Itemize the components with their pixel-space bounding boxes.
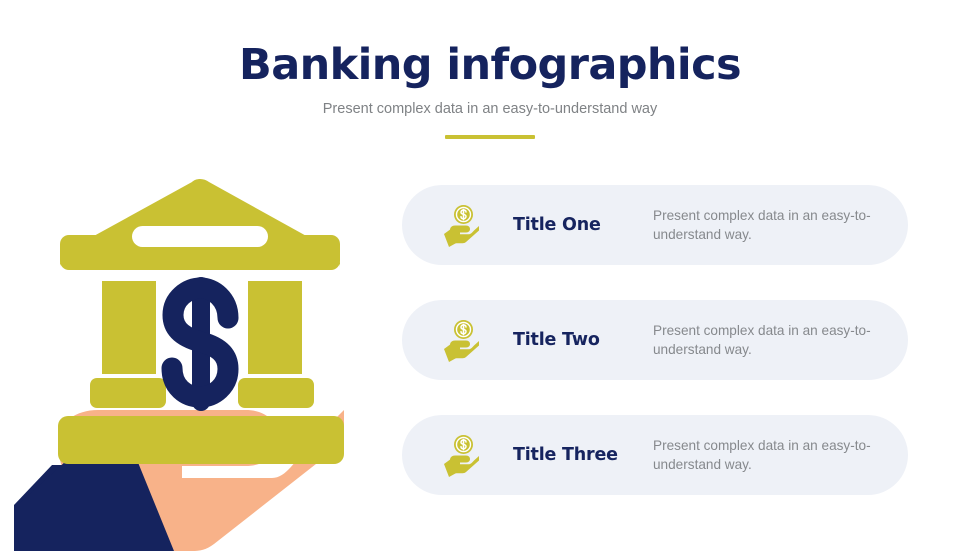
page-title: Banking infographics — [0, 0, 980, 90]
hand-holding-bank-illustration — [14, 160, 384, 551]
card-description: Present complex data in an easy-to-under… — [653, 206, 908, 244]
card-item[interactable]: Title Two Present complex data in an eas… — [402, 300, 908, 380]
header: Banking infographics Present complex dat… — [0, 0, 980, 139]
cards-list: Title One Present complex data in an eas… — [402, 185, 908, 495]
bank-base — [58, 416, 344, 464]
dollar-sign — [172, 277, 228, 411]
hand-holding-coin-icon — [439, 317, 485, 363]
card-title: Title Three — [513, 445, 653, 465]
card-description: Present complex data in an easy-to-under… — [653, 321, 908, 359]
card-item[interactable]: Title Three Present complex data in an e… — [402, 415, 908, 495]
hand-holding-coin-icon — [439, 202, 485, 248]
card-description: Present complex data in an easy-to-under… — [653, 436, 908, 474]
bank-left-pillar — [102, 281, 156, 374]
bank-right-pillar — [248, 281, 302, 374]
card-item[interactable]: Title One Present complex data in an eas… — [402, 185, 908, 265]
hand-holding-coin-icon — [439, 432, 485, 478]
card-title: Title Two — [513, 330, 653, 350]
title-divider — [445, 135, 535, 139]
page-subtitle: Present complex data in an easy-to-under… — [0, 90, 980, 118]
bank-left-pedestal — [90, 378, 166, 408]
card-title: Title One — [513, 215, 653, 235]
bank-right-pedestal — [238, 378, 314, 408]
bank-roof-slot — [132, 226, 268, 247]
